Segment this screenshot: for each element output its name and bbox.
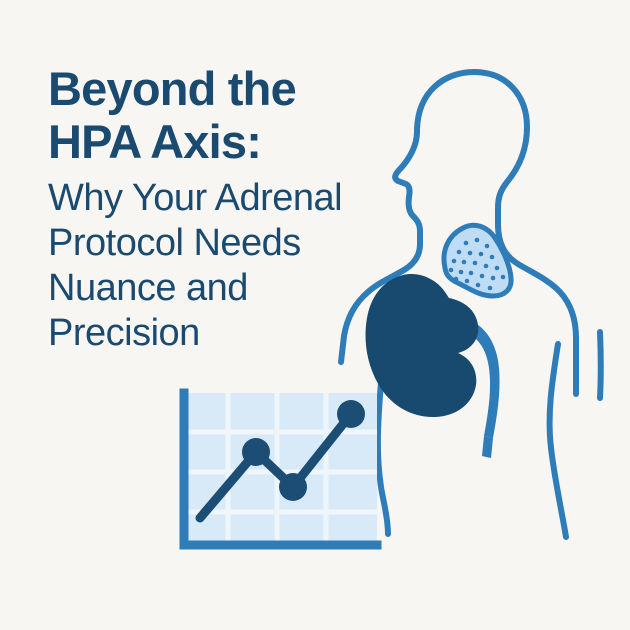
page-subtitle: Why Your Adrenal Protocol Needs Nuance a… [48, 176, 408, 355]
adrenal-gland [444, 225, 511, 296]
ureter-tube-lower [482, 436, 493, 458]
infographic-canvas: Beyond the HPA Axis: Why Your Adrenal Pr… [0, 0, 630, 630]
title-block: Beyond the HPA Axis: Why Your Adrenal Pr… [48, 62, 408, 356]
page-title: Beyond the HPA Axis: [48, 62, 408, 168]
